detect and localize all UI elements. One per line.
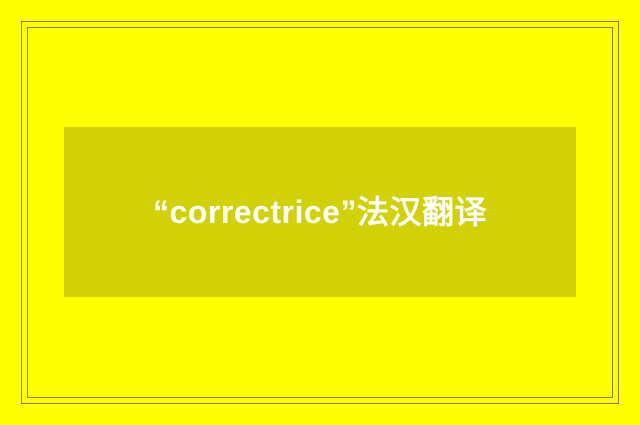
title-banner: “correctrice”法汉翻译 — [64, 127, 576, 297]
page-title: “correctrice”法汉翻译 — [86, 183, 554, 241]
poster-canvas: “correctrice”法汉翻译 — [0, 0, 640, 425]
